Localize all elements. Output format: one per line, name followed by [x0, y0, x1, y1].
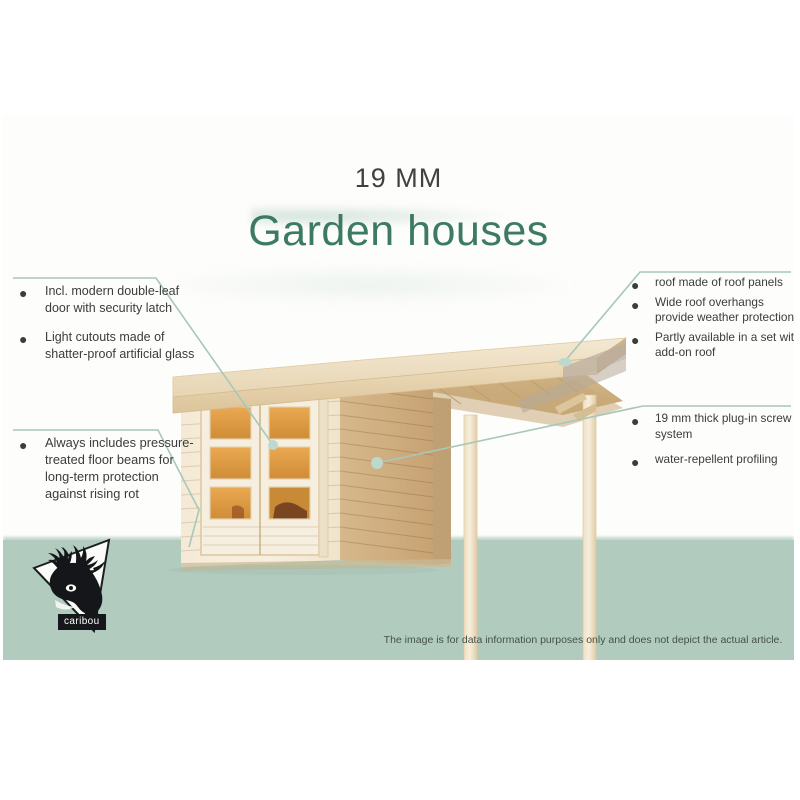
bullet-icon: ●	[631, 453, 639, 471]
brand-logo: caribou	[31, 538, 123, 633]
callout-floor-beams: ● Always includes pressure-treated floor…	[19, 435, 199, 516]
callout-item-text: Light cutouts made of shatter-proof arti…	[19, 329, 199, 362]
callout-item: ● Wide roof overhangs provide weather pr…	[631, 295, 794, 326]
callout-item: ● 19 mm thick plug-in screw system	[631, 411, 794, 442]
disclaimer-text: The image is for data information purpos…	[378, 634, 788, 646]
bullet-icon: ●	[19, 436, 27, 454]
image-canvas: 19 MM Garden houses	[3, 115, 794, 660]
callout-construction-features: ● 19 mm thick plug-in screw system ● wat…	[631, 411, 794, 478]
logo-wordmark: caribou	[58, 614, 106, 630]
callout-item: ● Always includes pressure-treated floor…	[19, 435, 199, 503]
leader-dot-door	[268, 440, 278, 450]
leader-dot-roof	[558, 358, 572, 366]
callout-item: ● Light cutouts made of shatter-proof ar…	[19, 329, 199, 362]
bullet-icon: ●	[19, 330, 27, 348]
callout-door-features: ● Incl. modern double-leaf door with sec…	[19, 283, 199, 375]
product-image: 19 MM Garden houses	[0, 0, 800, 800]
callout-item: ● Partly available in a set with add-on …	[631, 330, 794, 361]
callout-item-text: Partly available in a set with add-on ro…	[631, 330, 794, 361]
bullet-icon: ●	[19, 284, 27, 302]
callout-item-text: 19 mm thick plug-in screw system	[631, 411, 794, 442]
callout-item-text: Incl. modern double-leaf door with secur…	[19, 283, 199, 316]
callout-roof-features: ● roof made of roof panels ● Wide roof o…	[631, 275, 794, 365]
leader-dot-wall	[371, 457, 383, 469]
bullet-icon: ●	[631, 412, 639, 430]
callout-item: ● roof made of roof panels	[631, 275, 794, 291]
callout-item: ● water-repellent profiling	[631, 452, 794, 468]
callout-item-text: roof made of roof panels	[631, 275, 794, 291]
bullet-icon: ●	[631, 331, 639, 349]
callout-item: ● Incl. modern double-leaf door with sec…	[19, 283, 199, 316]
callout-item-text: Always includes pressure-treated floor b…	[19, 435, 199, 503]
bullet-icon: ●	[631, 276, 639, 294]
callout-item-text: Wide roof overhangs provide weather prot…	[631, 295, 794, 326]
callout-item-text: water-repellent profiling	[631, 452, 794, 468]
bullet-icon: ●	[631, 296, 639, 314]
